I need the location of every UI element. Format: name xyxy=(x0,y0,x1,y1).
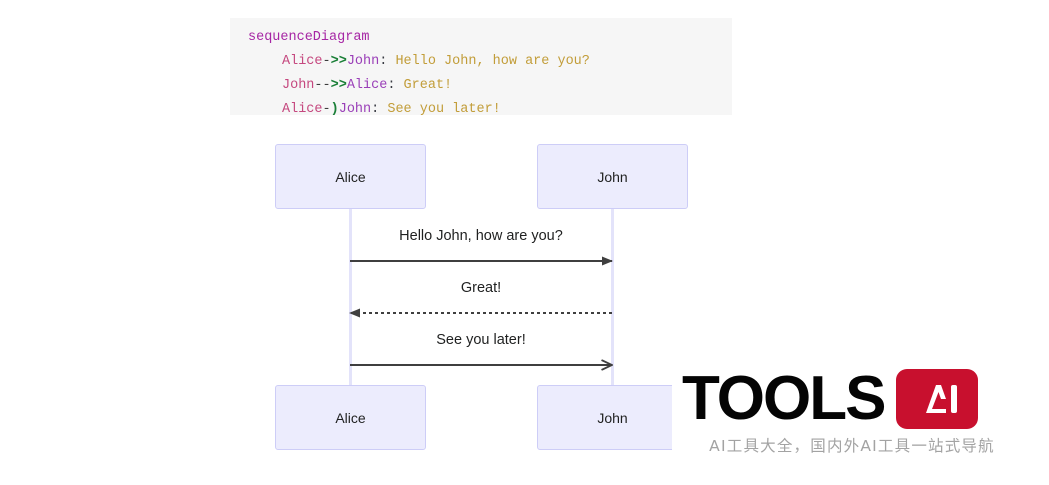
actor-label: Alice xyxy=(335,169,365,185)
actor-box-alice-bottom[interactable]: Alice xyxy=(275,385,426,450)
watermark-logo: TOOLS AI工具大全，国内外AI工具一站式导航 xyxy=(672,360,1049,485)
actor-box-john-bottom[interactable]: John xyxy=(537,385,688,450)
logo-subtitle: AI工具大全，国内外AI工具一站式导航 xyxy=(682,434,1022,456)
actor-box-john-top[interactable]: John xyxy=(537,144,688,209)
message-label-2: Great! xyxy=(350,280,612,296)
ai-glyph-icon xyxy=(908,379,966,419)
message-label-3: See you later! xyxy=(350,332,612,348)
logo-wordmark-text: TOOLS xyxy=(682,368,884,430)
logo-wordmark-row: TOOLS xyxy=(682,366,978,432)
actor-label: Alice xyxy=(335,410,365,426)
logo-ai-badge xyxy=(896,369,978,429)
actor-label: John xyxy=(597,169,627,185)
actor-label: John xyxy=(597,410,627,426)
message-label-1: Hello John, how are you? xyxy=(350,228,612,244)
actor-box-alice-top[interactable]: Alice xyxy=(275,144,426,209)
